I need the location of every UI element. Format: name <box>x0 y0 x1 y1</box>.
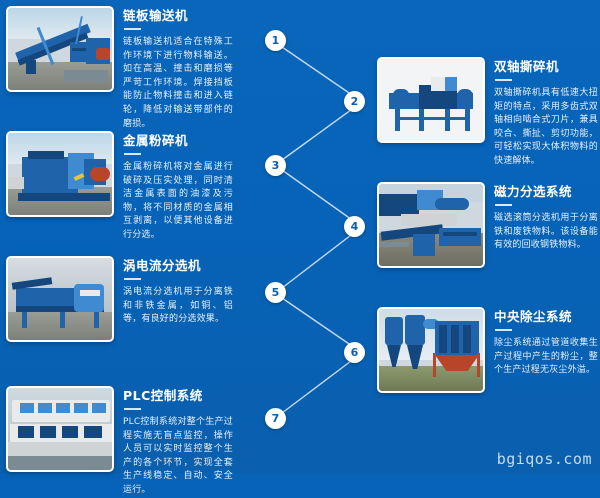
card-description: 涡电流分选机用于分离铁和非铁金属，如铜、铝等，有良好的分选效果。 <box>123 286 233 327</box>
feature-card-eddy-current-separator[interactable]: 涡电流分选机 涡电流分选机用于分离铁和非铁金属，如铜、铝等，有良好的分选效果。 <box>6 256 233 342</box>
connector-lines <box>250 0 380 474</box>
photo-magnetic-separation <box>377 182 485 268</box>
infographic-canvas: 链板输送机 链板输送机适合在特殊工作环境下进行物料输送。如在高温、撞击和磨损等严… <box>0 0 600 474</box>
card-title: 链板输送机 <box>123 8 233 23</box>
feature-card-metal-crusher[interactable]: 金属粉碎机 金属粉碎机将对金属进行破碎及压实处理，同时清洁金属表面的油漆及污物，… <box>6 131 233 243</box>
title-underline <box>124 408 141 410</box>
step-node-1[interactable]: 1 <box>265 30 286 51</box>
card-description: PLC控制系统对整个生产过程实施无盲点监控，操作人员可以实时监控整个生产的各个环… <box>123 416 233 498</box>
photo-eddy-current-separator <box>6 256 114 342</box>
feature-card-twin-shaft-shredder[interactable]: 双轴撕碎机 双轴撕碎机具有低速大扭矩的特点，采用多齿式双轴相向啮合式刀片，兼具咬… <box>377 57 598 169</box>
card-title: 涡电流分选机 <box>123 258 233 273</box>
step-node-4[interactable]: 4 <box>344 216 365 237</box>
photo-plc-control-system <box>6 386 114 472</box>
card-title: 磁力分选系统 <box>494 184 598 199</box>
card-description: 双轴撕碎机具有低速大扭矩的特点，采用多齿式双轴相向啮合式刀片，兼具咬合、撕扯、剪… <box>494 87 598 169</box>
feature-card-central-dust-removal[interactable]: 中央除尘系统 除尘系统通过管道收集生产过程中产生的粉尘，整个生产过程无灰尘外溢。 <box>377 307 598 393</box>
card-description: 金属粉碎机将对金属进行破碎及压实处理，同时清洁金属表面的油漆及污物，将不同材质的… <box>123 161 233 243</box>
step-node-5[interactable]: 5 <box>265 282 286 303</box>
card-description: 除尘系统通过管道收集生产过程中产生的粉尘，整个生产过程无灰尘外溢。 <box>494 337 598 378</box>
photo-central-dust-removal <box>377 307 485 393</box>
step-node-7[interactable]: 7 <box>265 408 286 429</box>
photo-twin-shaft-shredder <box>377 57 485 143</box>
step-node-2[interactable]: 2 <box>344 91 365 112</box>
card-title: PLC控制系统 <box>123 388 233 403</box>
title-underline <box>124 278 141 280</box>
title-underline <box>495 79 512 81</box>
title-underline <box>124 153 141 155</box>
feature-card-plc-control-system[interactable]: PLC控制系统 PLC控制系统对整个生产过程实施无盲点监控，操作人员可以实时监控… <box>6 386 233 498</box>
feature-card-magnetic-separation[interactable]: 磁力分选系统 磁选滚筒分选机用于分离铁和废铁物料。该设备能有效的回收钢铁物料。 <box>377 182 598 268</box>
photo-metal-crusher <box>6 131 114 217</box>
card-description: 链板输送机适合在特殊工作环境下进行物料输送。如在高温、撞击和磨损等严苛工作环境。… <box>123 36 233 131</box>
card-title: 双轴撕碎机 <box>494 59 598 74</box>
card-description: 磁选滚筒分选机用于分离铁和废铁物料。该设备能有效的回收钢铁物料。 <box>494 212 598 253</box>
photo-chain-conveyor <box>6 6 114 92</box>
title-underline <box>495 204 512 206</box>
process-flow-connector: 1 2 3 4 5 6 7 <box>250 0 380 474</box>
step-node-6[interactable]: 6 <box>344 342 365 363</box>
card-title: 金属粉碎机 <box>123 133 233 148</box>
step-node-3[interactable]: 3 <box>265 155 286 176</box>
feature-card-chain-conveyor[interactable]: 链板输送机 链板输送机适合在特殊工作环境下进行物料输送。如在高温、撞击和磨损等严… <box>6 6 233 131</box>
site-watermark: bgiqos.com <box>497 450 592 468</box>
title-underline <box>124 28 141 30</box>
card-title: 中央除尘系统 <box>494 309 598 324</box>
title-underline <box>495 329 512 331</box>
